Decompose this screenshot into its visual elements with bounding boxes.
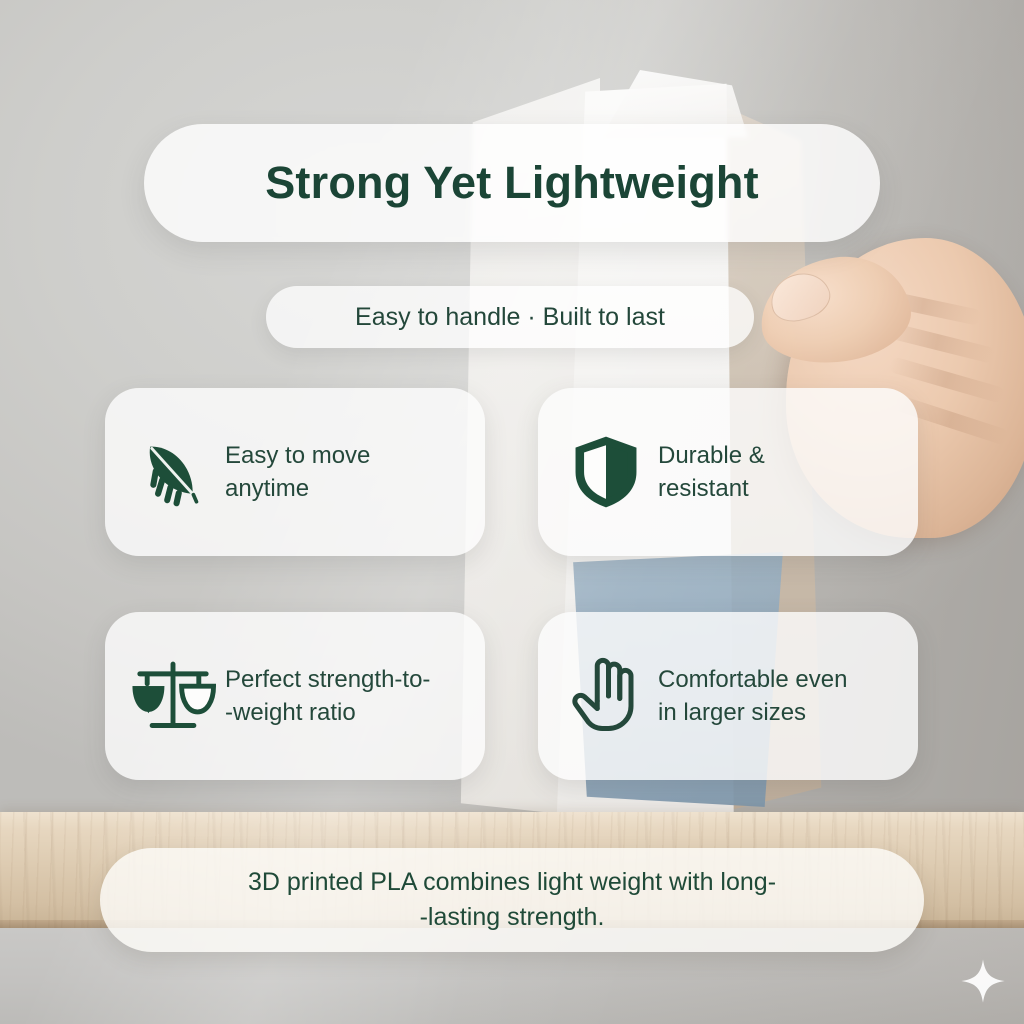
footer-pill: 3D printed PLA combines light weight wit…: [100, 848, 924, 952]
feature-label-line-2: anytime: [225, 472, 370, 505]
footer-line-2: -lasting strength.: [248, 900, 776, 936]
feature-card-comfortable[interactable]: Comfortable even in larger sizes: [538, 612, 918, 780]
footer-text: 3D printed PLA combines light weight wit…: [248, 865, 776, 936]
feature-label-line-2: resistant: [658, 472, 765, 505]
feature-label-line-2: -weight ratio: [225, 696, 430, 729]
feature-card-durable[interactable]: Durable & resistant: [538, 388, 918, 556]
feature-label-line-2: in larger sizes: [658, 696, 847, 729]
feature-label-line-1: Easy to move: [225, 439, 370, 472]
feature-card-easy-to-move[interactable]: Easy to move anytime: [105, 388, 485, 556]
balance-scale-icon: [127, 650, 219, 742]
feature-card-strength-to-weight[interactable]: Perfect strength-to- -weight ratio: [105, 612, 485, 780]
feather-icon: [127, 426, 219, 518]
feature-label-line-1: Perfect strength-to-: [225, 663, 430, 696]
feature-card-label: Easy to move anytime: [219, 439, 370, 505]
footer-line-1: 3D printed PLA combines light weight wit…: [248, 865, 776, 901]
feature-label-line-1: Durable &: [658, 439, 765, 472]
feature-label-line-1: Comfortable even: [658, 663, 847, 696]
infographic-canvas: Strong Yet Lightweight Easy to handle · …: [0, 0, 1024, 1024]
infographic-overlay: Strong Yet Lightweight Easy to handle · …: [0, 0, 1024, 1024]
sparkle-icon: [960, 958, 1006, 1004]
feature-card-label: Comfortable even in larger sizes: [652, 663, 847, 729]
open-hand-icon: [560, 650, 652, 742]
feature-card-label: Durable & resistant: [652, 439, 765, 505]
shield-icon: [560, 426, 652, 518]
feature-card-label: Perfect strength-to- -weight ratio: [219, 663, 430, 729]
